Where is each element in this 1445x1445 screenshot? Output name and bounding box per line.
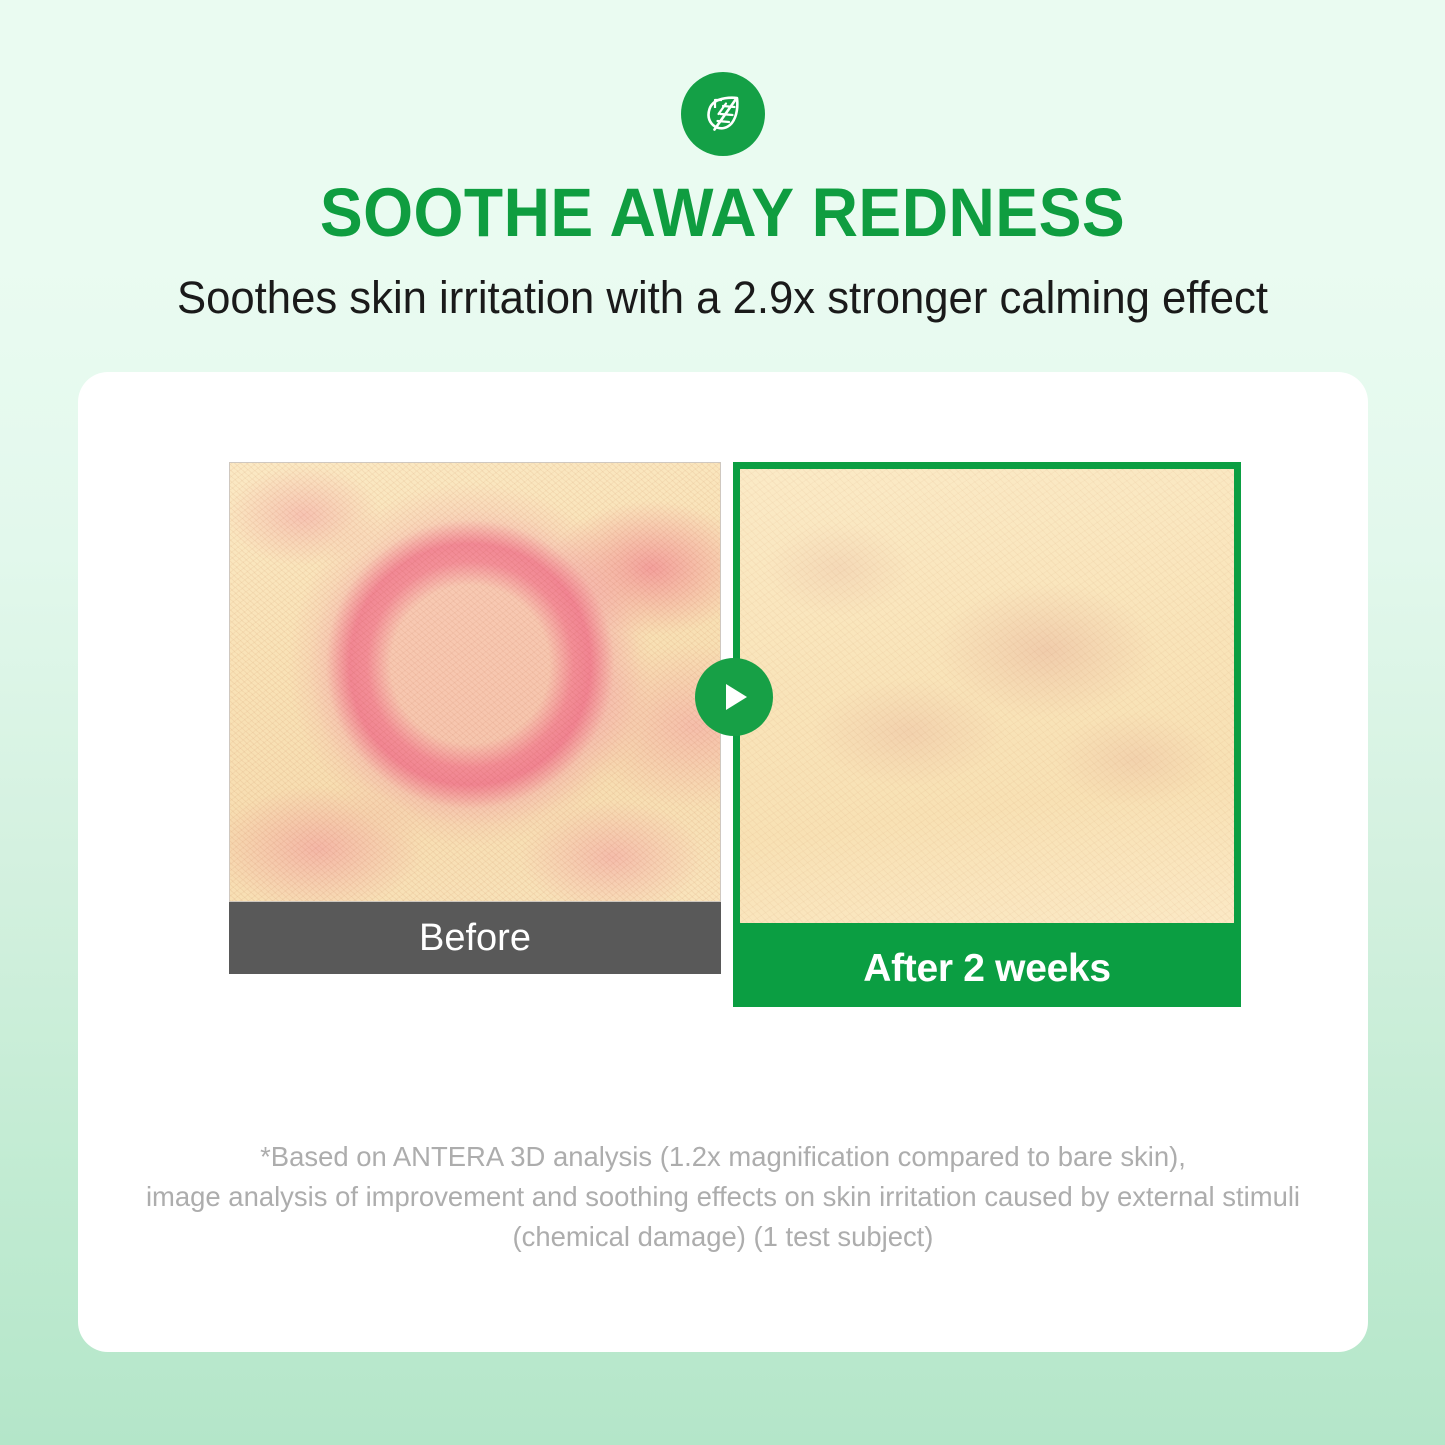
footnote-line-2: image analysis of improvement and soothi… — [91, 1177, 1355, 1217]
after-image — [733, 462, 1241, 930]
play-arrow-icon — [718, 682, 751, 712]
page-subtitle: Soothes skin irritation with a 2.9x stro… — [22, 273, 1424, 323]
page-title: SOOTHE AWAY REDNESS — [51, 178, 1395, 247]
before-label: Before — [229, 902, 721, 974]
leaf-icon — [696, 87, 750, 141]
footnote-line-1: *Based on ANTERA 3D analysis (1.2x magni… — [91, 1137, 1355, 1177]
before-image — [229, 462, 721, 902]
before-skin-texture — [230, 463, 720, 901]
leaf-badge — [681, 72, 765, 156]
before-after-comparison: Before After 2 weeks — [229, 462, 1241, 1007]
after-panel: After 2 weeks — [733, 462, 1241, 1007]
footnote-line-3: (chemical damage) (1 test subject) — [91, 1217, 1355, 1257]
after-label: After 2 weeks — [733, 930, 1241, 1007]
play-arrow-button[interactable] — [695, 658, 773, 736]
page-header: SOOTHE AWAY REDNESS Soothes skin irritat… — [0, 0, 1445, 323]
content-card: Before After 2 weeks *Based on ANTERA 3D… — [78, 372, 1368, 1352]
footnote: *Based on ANTERA 3D analysis (1.2x magni… — [91, 1137, 1355, 1256]
after-skin-texture — [740, 469, 1234, 923]
before-panel: Before — [229, 462, 721, 974]
